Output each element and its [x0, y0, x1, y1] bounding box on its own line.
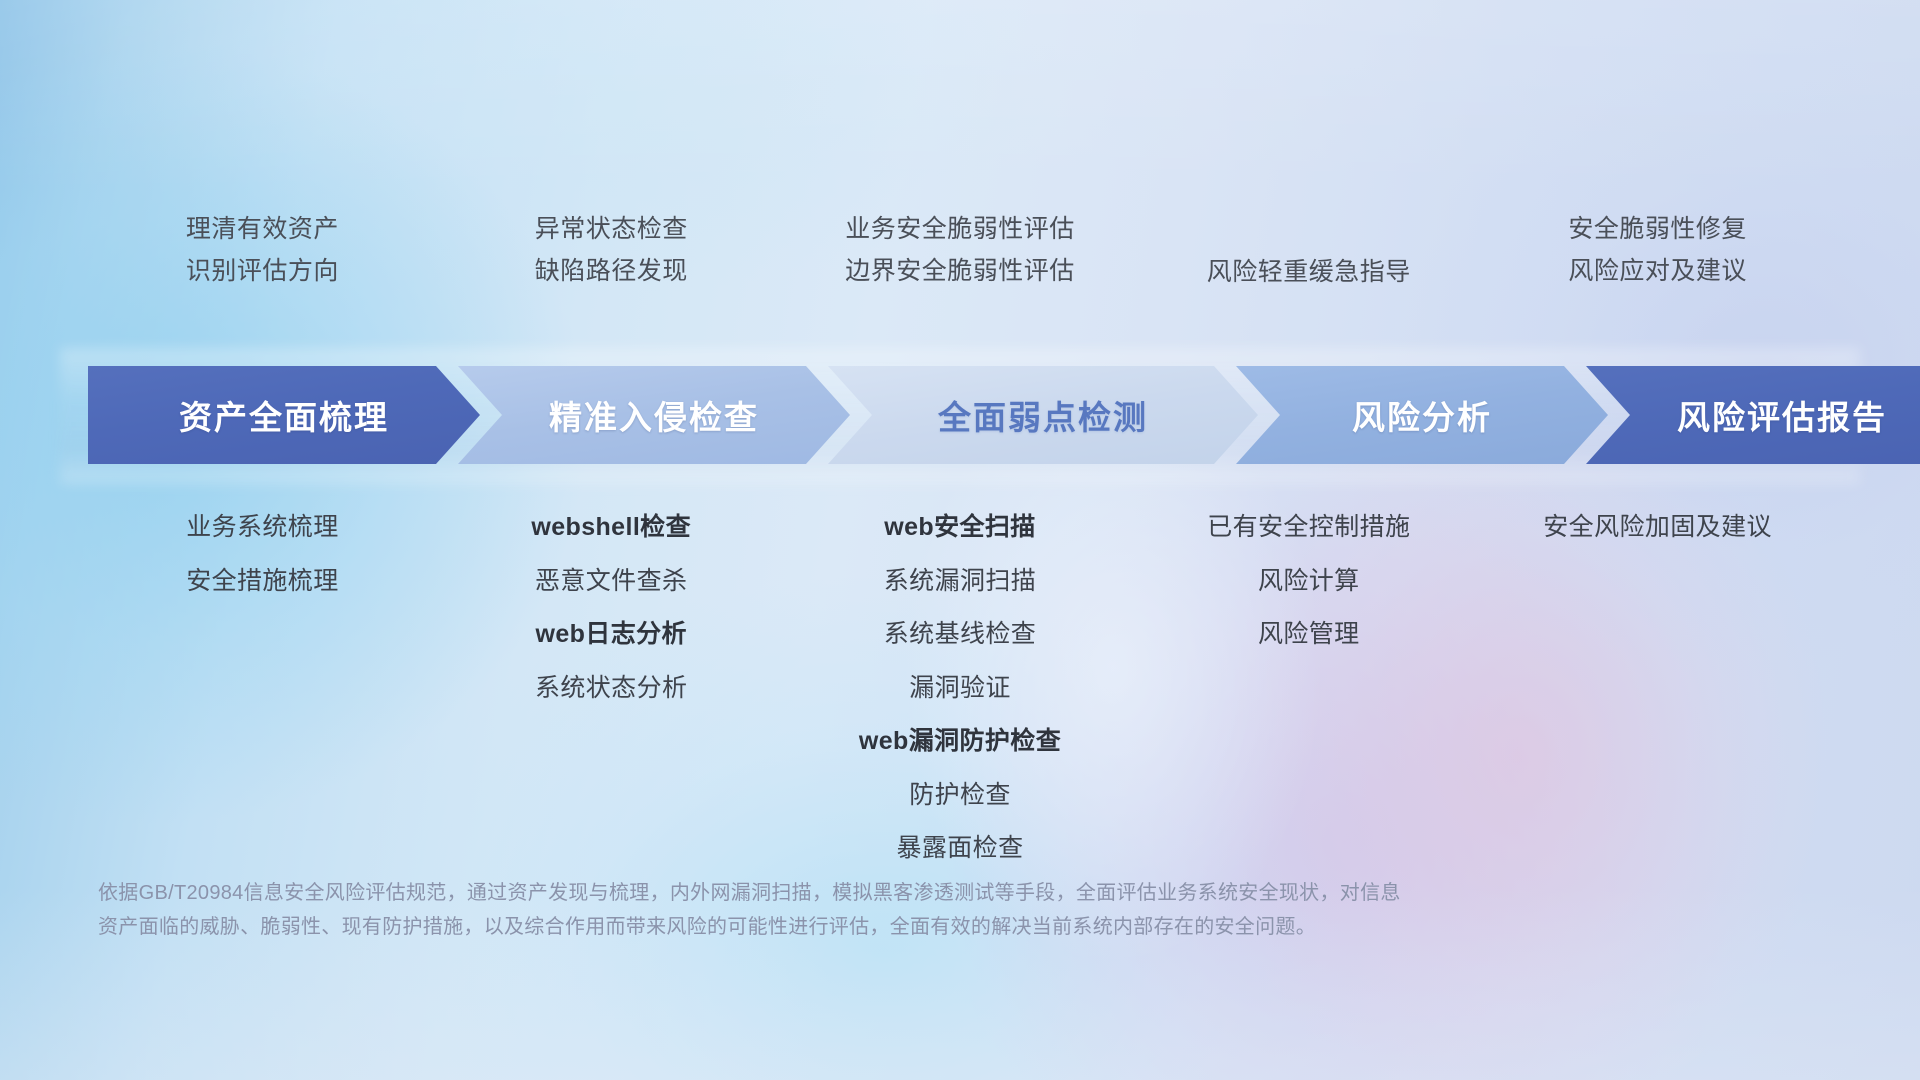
top-labels-stage-1: 理清有效资产 识别评估方向: [88, 216, 437, 336]
bottom-labels-stage-5: 安全风险加固及建议: [1483, 500, 1832, 542]
bottom-label: 恶意文件查杀: [535, 568, 687, 596]
bottom-label: 安全风险加固及建议: [1543, 514, 1772, 542]
top-label: 安全脆弱性修复: [1568, 216, 1747, 244]
top-labels-stage-3: 业务安全脆弱性评估 边界安全脆弱性评估: [786, 216, 1135, 336]
footer-line-1: 依据GB/T20984信息安全风险评估规范，通过资产发现与梳理，内外网漏洞扫描，…: [98, 876, 1658, 910]
process-diagram: 理清有效资产 识别评估方向 异常状态检查 缺陷路径发现 业务安全脆弱性评估 边界…: [0, 0, 1920, 1080]
top-label: 边界安全脆弱性评估: [845, 258, 1075, 286]
top-labels-row: 理清有效资产 识别评估方向 异常状态检查 缺陷路径发现 业务安全脆弱性评估 边界…: [88, 216, 1832, 336]
bottom-label: web漏洞防护检查: [859, 728, 1061, 756]
bottom-label: 已有安全控制措施: [1207, 514, 1410, 542]
bottom-labels-stage-4: 已有安全控制措施 风险计算 风险管理: [1134, 500, 1483, 649]
top-label: 业务安全脆弱性评估: [845, 216, 1075, 244]
bottom-label: 系统基线检查: [884, 621, 1036, 649]
chevron-stage-1[interactable]: 资产全面梳理: [88, 366, 480, 464]
top-label: 缺陷路径发现: [535, 258, 688, 286]
chevron-label: 风险分析: [1352, 391, 1492, 439]
bottom-label: webshell检查: [531, 514, 691, 542]
top-label: 风险轻重缓急指导: [1207, 259, 1411, 287]
top-label: 理清有效资产: [186, 216, 339, 244]
bottom-label: 防护检查: [909, 782, 1011, 810]
footer-description: 依据GB/T20984信息安全风险评估规范，通过资产发现与梳理，内外网漏洞扫描，…: [98, 876, 1658, 945]
chevron-stage-4[interactable]: 风险分析: [1236, 366, 1608, 464]
chevron-stage-5[interactable]: 风险评估报告: [1586, 366, 1920, 464]
bottom-label: 暴露面检查: [896, 835, 1023, 863]
bottom-label: 系统状态分析: [535, 675, 687, 703]
chevron-stage-3[interactable]: 全面弱点检测: [828, 366, 1258, 464]
bottom-label: 风险管理: [1258, 621, 1360, 649]
top-labels-stage-2: 异常状态检查 缺陷路径发现: [437, 216, 786, 336]
bottom-label: 漏洞验证: [909, 675, 1011, 703]
top-labels-stage-4: 风险轻重缓急指导: [1134, 216, 1483, 336]
chevron-label: 资产全面梳理: [179, 391, 389, 439]
bottom-label: 业务系统梳理: [186, 514, 338, 542]
top-labels-stage-5: 安全脆弱性修复 风险应对及建议: [1483, 216, 1832, 336]
chevron-band: 资产全面梳理 精准入侵检查 全面弱点检测 风险分析 风险评估报告: [88, 366, 1832, 464]
top-label: 识别评估方向: [186, 258, 339, 286]
bottom-label: 系统漏洞扫描: [884, 568, 1036, 596]
footer-line-2: 资产面临的威胁、脆弱性、现有防护措施，以及综合作用而带来风险的可能性进行评估，全…: [98, 910, 1658, 944]
chevron-label: 精准入侵检查: [549, 391, 759, 439]
top-label: 异常状态检查: [535, 216, 688, 244]
top-label: 风险应对及建议: [1568, 258, 1747, 286]
bottom-labels-stage-3: web安全扫描 系统漏洞扫描 系统基线检查 漏洞验证 web漏洞防护检查 防护检…: [786, 500, 1135, 863]
bottom-labels-stage-2: webshell检查 恶意文件查杀 web日志分析 系统状态分析: [437, 500, 786, 702]
bottom-label: 安全措施梳理: [186, 568, 338, 596]
bottom-labels-stage-1: 业务系统梳理 安全措施梳理: [88, 500, 437, 595]
bottom-label: 风险计算: [1258, 568, 1360, 596]
chevron-stage-2[interactable]: 精准入侵检查: [458, 366, 850, 464]
bottom-label: web安全扫描: [884, 514, 1035, 542]
chevron-label: 风险评估报告: [1677, 391, 1887, 439]
chevron-label: 全面弱点检测: [938, 391, 1148, 439]
bottom-label: web日志分析: [535, 621, 686, 649]
bottom-labels-row: 业务系统梳理 安全措施梳理 webshell检查 恶意文件查杀 web日志分析 …: [88, 500, 1832, 820]
